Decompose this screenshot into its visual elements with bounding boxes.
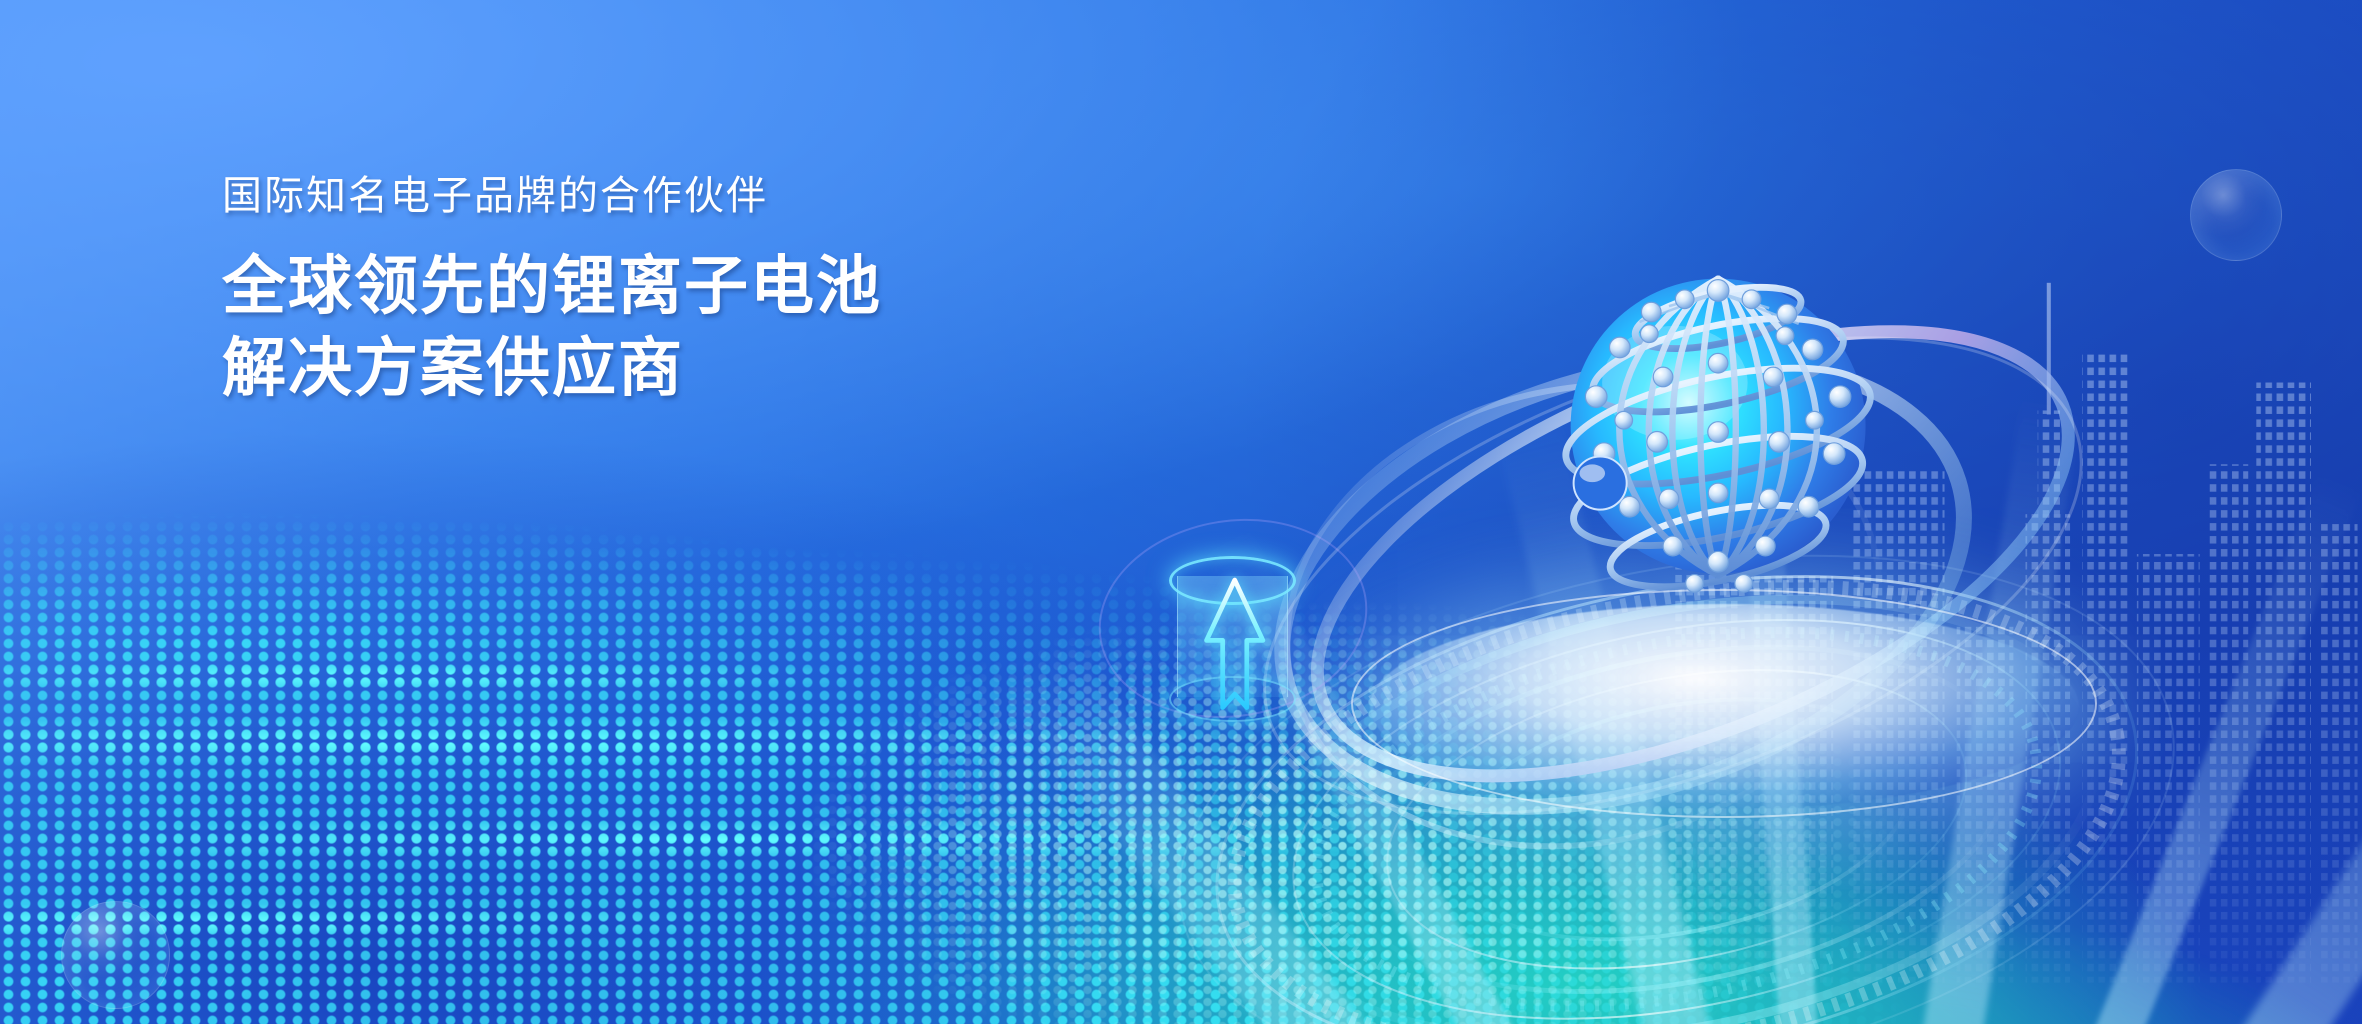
glass-bubble-top-right [2190,169,2282,261]
teal-glow-secondary [709,635,2079,1024]
cylinder-body [1177,576,1288,697]
banner-copy: 国际知名电子品牌的合作伙伴 全球领先的锂离子电池 解决方案供应商 [222,172,882,410]
banner-headline-line-1: 全球领先的锂离子电池 [222,246,882,328]
orbital-rings-icon [968,225,2338,962]
banner-headline-line-2: 解决方案供应商 [222,328,882,410]
pixel-city-skyline-icon [1653,225,2362,983]
hero-banner: 国际知名电子品牌的合作伙伴 全球领先的锂离子电池 解决方案供应商 [0,0,2362,1024]
concentric-tech-rings-icon [1039,492,2314,1024]
banner-eyebrow: 国际知名电子品牌的合作伙伴 [222,172,882,220]
halftone-dot-mesh [0,0,2362,1024]
banner-headline: 全球领先的锂离子电池 解决方案供应商 [222,246,882,410]
halftone-wave-crest [0,0,2362,1024]
glass-bubble-bottom-left [61,901,170,1009]
cylinder-bottom-ellipse [1169,676,1296,722]
upward-arrow-cylinder [1167,553,1299,717]
background-right-shade [1228,0,2362,1024]
halftone-dot-mesh-teal [0,0,2362,1024]
background-deep-blue-vignette [0,410,1559,1024]
light-ray-burst-icon [1275,0,2362,737]
teal-glow [850,451,2362,1024]
platform-disc [1370,604,2079,809]
cylinder-top-ellipse [1169,556,1296,605]
platform-disc-edge [1351,589,2097,818]
wireframe-globe-icon [1476,200,1960,692]
cylinder-halo-ring [1084,500,1381,736]
arrow-up-icon [1199,576,1270,717]
